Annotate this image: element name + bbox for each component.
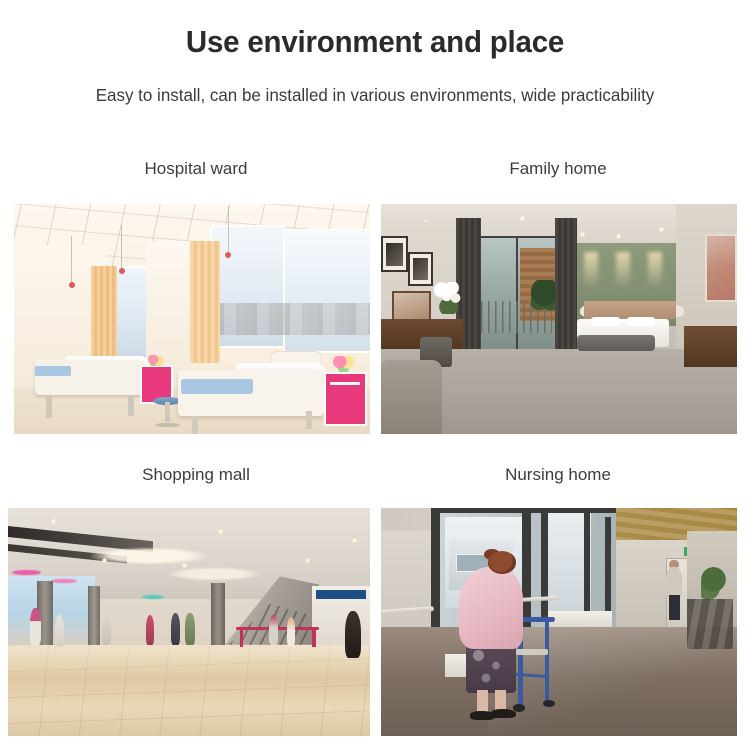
dresser-right — [684, 326, 737, 367]
wall-wash-light-1 — [584, 252, 598, 289]
guard-rail-post-2 — [312, 627, 316, 648]
ceiling-downlight-5 — [659, 227, 664, 232]
orchid-plant — [431, 282, 467, 314]
walker-leg-right — [545, 617, 550, 704]
curtain-left — [91, 266, 118, 363]
elderly-woman-pink-jacket — [459, 567, 523, 649]
elderly-woman-skirt — [466, 643, 516, 693]
bed-end-bench — [577, 335, 655, 351]
floor-reflection — [8, 645, 370, 736]
window-mullion-3 — [541, 508, 548, 622]
bed-right-leg-1 — [192, 416, 198, 434]
nursing-home-photo — [381, 508, 737, 736]
iv-hanger-cord-1 — [71, 236, 73, 284]
shopper-foreground — [345, 611, 361, 659]
shopping-mall-photo — [8, 508, 370, 736]
flower-vase-left — [146, 355, 164, 367]
bed-right-rail — [181, 379, 252, 394]
iv-hanger-cord-2 — [121, 225, 123, 271]
page-root: Use environment and place Easy to instal… — [0, 0, 750, 750]
wall-art-right — [705, 234, 737, 302]
corridor-chairs — [687, 599, 733, 649]
bed-left-leg-2 — [128, 395, 134, 416]
skyline-outside — [210, 303, 370, 335]
stool-base — [155, 423, 180, 428]
door-mullion — [516, 236, 518, 351]
wall-wash-light-3 — [648, 252, 662, 289]
stool-pole — [165, 402, 170, 423]
ceiling-light-cove-2 — [167, 567, 261, 581]
mirrored-pillar-2 — [88, 586, 101, 645]
ceiling-downlight-4 — [616, 234, 621, 239]
pillow-2 — [627, 317, 655, 326]
ceiling-spotlight-3 — [352, 538, 357, 543]
window-mullion-1 — [431, 508, 440, 636]
ceiling-spotlight-6 — [305, 558, 310, 563]
distant-person-legs — [669, 595, 680, 620]
bed-left-rail — [35, 366, 71, 376]
iv-hanger-hook-1 — [69, 282, 75, 288]
pillow-1 — [591, 317, 619, 326]
neon-ring-light-2 — [51, 579, 76, 584]
ceiling-spotlight-2 — [218, 529, 223, 534]
walker-handlebar — [520, 617, 556, 621]
elderly-woman-shoe-2 — [491, 709, 516, 718]
window-mullion-5 — [605, 517, 611, 617]
ceiling-downlight-2 — [520, 216, 525, 221]
caption-hospital-ward: Hospital ward — [46, 158, 346, 180]
store-signboard — [316, 590, 367, 599]
window-sill-radiator — [548, 611, 612, 627]
corridor-plant — [701, 563, 726, 604]
mannequin-1 — [30, 608, 41, 644]
guard-rail-post-1 — [240, 627, 244, 648]
caption-nursing-home: Nursing home — [408, 464, 708, 486]
mannequin-3 — [102, 615, 111, 645]
curtain-center — [190, 241, 220, 363]
mannequin-2 — [55, 615, 64, 647]
shopper-4 — [287, 617, 296, 646]
page-subtitle: Easy to install, can be installed in var… — [11, 83, 739, 107]
wall-wash-light-2 — [616, 252, 630, 289]
neon-ring-light-1 — [12, 570, 41, 576]
bed-right-leg-2 — [306, 411, 312, 429]
sofa — [381, 360, 442, 434]
window-mullion-4 — [584, 513, 590, 618]
mannequin-4 — [146, 615, 155, 645]
family-home-photo — [381, 204, 737, 434]
shopper-3 — [269, 615, 278, 645]
neon-ring-light-3 — [142, 595, 164, 599]
shopper-2 — [185, 613, 194, 645]
hospital-ward-photo — [14, 204, 370, 434]
distant-person-body — [666, 567, 682, 597]
bedside-cabinet-right — [324, 372, 367, 427]
caption-family-home: Family home — [408, 158, 708, 180]
caption-shopping-mall: Shopping mall — [46, 464, 346, 486]
flower-vase-right — [331, 356, 356, 372]
iv-hanger-cord-3 — [228, 206, 230, 254]
walker-seat — [516, 649, 548, 655]
page-title: Use environment and place — [19, 23, 732, 61]
framed-picture-1 — [381, 236, 408, 272]
bed-left-leg-1 — [46, 395, 52, 418]
framed-picture-2 — [408, 252, 433, 286]
ceiling-spotlight-5 — [182, 563, 187, 568]
window-head-rail — [431, 508, 616, 513]
mirrored-pillar-3 — [211, 583, 225, 645]
shopper-1 — [171, 613, 180, 645]
